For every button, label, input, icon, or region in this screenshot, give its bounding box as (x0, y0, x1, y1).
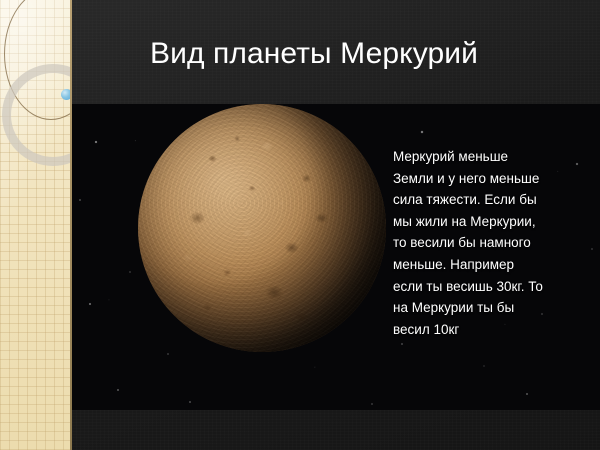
planet-shadow-terminator (138, 104, 386, 352)
presentation-slide: Вид планеты Меркурий Меркурий меньше Зем… (0, 0, 600, 450)
sidebar-right-edge (70, 0, 72, 450)
slide-body-text: Меркурий меньше Земли и у него меньше си… (393, 146, 543, 340)
mercury-planet-image (138, 104, 386, 352)
slide-title: Вид планеты Меркурий (150, 36, 580, 72)
decorative-sidebar (0, 0, 72, 450)
